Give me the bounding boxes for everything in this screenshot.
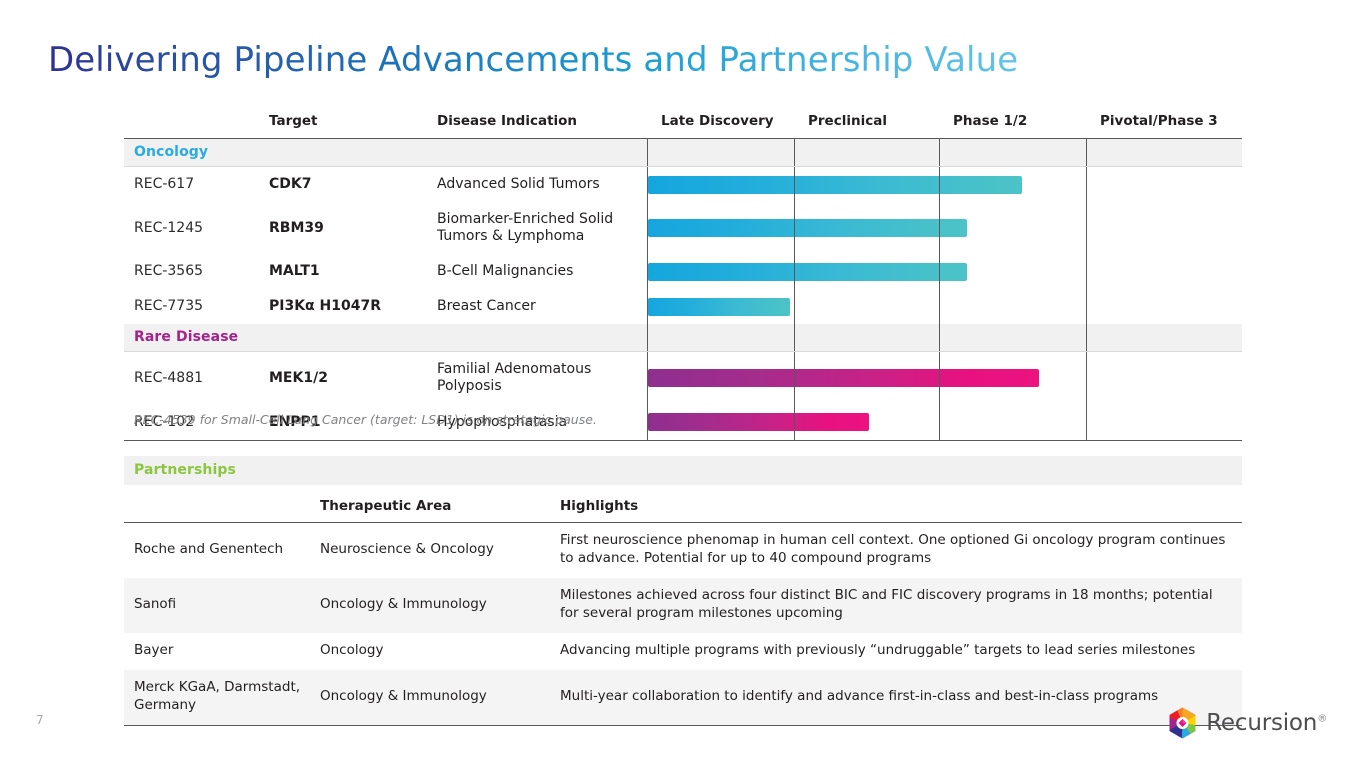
table-row: Merck KGaA, Darmstadt, Germany Oncology … [124, 670, 1242, 725]
program-code: REC-1245 [124, 202, 269, 254]
grid-cell [647, 352, 794, 405]
program-indication: Familial Adenomatous Polyposis [437, 352, 647, 405]
grid-cell [939, 324, 1086, 352]
pipeline-row: REC-7735 PI3Kα H1047R Breast Cancer [124, 289, 1242, 324]
pipeline-section: Target Disease Indication Late Discovery… [124, 113, 1242, 443]
gridline [794, 352, 795, 404]
trademark-symbol: ® [1317, 713, 1327, 724]
gridline [1086, 139, 1087, 166]
grid-cell [939, 289, 1086, 324]
gridline [939, 254, 940, 289]
pipeline-table: Target Disease Indication Late Discovery… [124, 113, 1242, 443]
grid-cell [1086, 289, 1242, 324]
grid-cell [1086, 405, 1242, 441]
gridline [939, 352, 940, 404]
gridline [647, 352, 648, 404]
gridline [1086, 202, 1087, 254]
gridline [794, 289, 795, 324]
grid-cell [647, 202, 794, 254]
grid-cell [794, 324, 939, 352]
program-indication: B-Cell Malignancies [437, 254, 647, 289]
partnerships-table: Therapeutic Area Highlights Roche and Ge… [124, 485, 1242, 726]
partner-therapeutic-area: Neuroscience & Oncology [310, 523, 550, 578]
gridline [939, 405, 940, 440]
gridline [1086, 405, 1087, 440]
section-label-rare-disease: Rare Disease [124, 324, 647, 352]
column-header-target: Target [269, 113, 437, 139]
pipeline-row: REC-617 CDK7 Advanced Solid Tumors [124, 167, 1242, 203]
program-indication: Advanced Solid Tumors [437, 167, 647, 203]
partner-highlights: First neuroscience phenomap in human cel… [550, 523, 1242, 578]
gridline [939, 167, 940, 202]
program-code: REC-7735 [124, 289, 269, 324]
table-row: Roche and Genentech Neuroscience & Oncol… [124, 523, 1242, 578]
grid-cell [1086, 324, 1242, 352]
table-row: Sanofi Oncology & Immunology Milestones … [124, 578, 1242, 633]
gridline [794, 202, 795, 254]
grid-cell [794, 167, 939, 203]
pipeline-header-row: Target Disease Indication Late Discovery… [124, 113, 1242, 139]
gridline [647, 167, 648, 202]
grid-cell [939, 202, 1086, 254]
pipeline-bottom-rule [124, 440, 1242, 443]
column-header-program [124, 113, 269, 139]
gridline [794, 405, 795, 440]
column-header-preclinical: Preclinical [794, 113, 939, 139]
partner-company: Roche and Genentech [124, 523, 310, 578]
bar-layer [647, 167, 794, 202]
page-title: Delivering Pipeline Advancements and Par… [48, 40, 1018, 80]
gridline [794, 254, 795, 289]
brand-name: Recursion® [1206, 710, 1327, 736]
grid-cell [939, 167, 1086, 203]
program-indication: Biomarker-Enriched Solid Tumors & Lympho… [437, 202, 647, 254]
grid-cell [1086, 139, 1242, 167]
pipeline-footnote: REC-4539 for Small-Cell Lung Cancer (tar… [134, 412, 597, 427]
grid-cell [647, 167, 794, 203]
program-target: CDK7 [269, 167, 437, 203]
pipeline-row: REC-3565 MALT1 B-Cell Malignancies [124, 254, 1242, 289]
partner-highlights: Milestones achieved across four distinct… [550, 578, 1242, 633]
grid-cell [794, 254, 939, 289]
column-header-disease-indication: Disease Indication [437, 113, 647, 139]
grid-cell [794, 289, 939, 324]
table-row: Bayer Oncology Advancing multiple progra… [124, 633, 1242, 670]
gridline [1086, 324, 1087, 351]
section-band-rare-disease: Rare Disease [124, 324, 1242, 352]
grid-cell [647, 289, 794, 324]
column-header-pivotal-phase-3: Pivotal/Phase 3 [1086, 113, 1242, 139]
gridline [647, 202, 648, 254]
gridline [794, 324, 795, 351]
grid-cell [647, 139, 794, 167]
partner-therapeutic-area: Oncology & Immunology [310, 578, 550, 633]
gridline [1086, 254, 1087, 289]
grid-cell [794, 405, 939, 441]
pipeline-row: REC-4881 MEK1/2 Familial Adenomatous Pol… [124, 352, 1242, 405]
column-header-therapeutic-area: Therapeutic Area [310, 485, 550, 523]
grid-cell [1086, 167, 1242, 203]
section-label-oncology: Oncology [124, 139, 647, 167]
gridline [1086, 352, 1087, 404]
progress-bar-rec-7735 [648, 298, 790, 316]
pipeline-row: REC-1245 RBM39 Biomarker-Enriched Solid … [124, 202, 1242, 254]
bar-layer [647, 202, 794, 254]
gridline [939, 139, 940, 166]
partner-company: Bayer [124, 633, 310, 670]
column-header-company [124, 485, 310, 523]
program-code: REC-4881 [124, 352, 269, 405]
program-target: MALT1 [269, 254, 437, 289]
brand-logo: Recursion® [1168, 707, 1327, 739]
bar-layer [647, 254, 794, 289]
gridline [794, 139, 795, 166]
partner-company: Sanofi [124, 578, 310, 633]
program-target: PI3Kα H1047R [269, 289, 437, 324]
grid-cell [647, 254, 794, 289]
program-target: MEK1/2 [269, 352, 437, 405]
partner-therapeutic-area: Oncology [310, 633, 550, 670]
partner-company: Merck KGaA, Darmstadt, Germany [124, 670, 310, 725]
column-header-highlights: Highlights [550, 485, 1242, 523]
section-label-partnerships: Partnerships [124, 456, 1242, 485]
bar-layer [647, 405, 794, 440]
gridline [939, 324, 940, 351]
bar-layer [647, 289, 794, 324]
grid-cell [1086, 352, 1242, 405]
gridline [647, 139, 648, 166]
grid-cell [939, 352, 1086, 405]
program-code: REC-3565 [124, 254, 269, 289]
grid-cell [1086, 202, 1242, 254]
gridline [939, 202, 940, 254]
grid-cell [647, 405, 794, 441]
bar-layer [647, 352, 794, 404]
grid-cell [647, 324, 794, 352]
grid-cell [1086, 254, 1242, 289]
grid-cell [794, 139, 939, 167]
gridline [939, 289, 940, 324]
grid-cell [939, 405, 1086, 441]
page-number: 7 [36, 713, 44, 727]
grid-cell [794, 352, 939, 405]
gridline [794, 167, 795, 202]
program-target: RBM39 [269, 202, 437, 254]
gridline [647, 405, 648, 440]
partner-highlights: Advancing multiple programs with previou… [550, 633, 1242, 670]
column-header-phase-1-2: Phase 1/2 [939, 113, 1086, 139]
section-band-oncology: Oncology [124, 139, 1242, 167]
gridline [647, 254, 648, 289]
grid-cell [939, 139, 1086, 167]
gridline [647, 289, 648, 324]
gridline [1086, 167, 1087, 202]
column-header-late-discovery: Late Discovery [647, 113, 794, 139]
program-indication: Breast Cancer [437, 289, 647, 324]
partnerships-section: Partnerships Therapeutic Area Highlights… [124, 456, 1242, 726]
program-code: REC-617 [124, 167, 269, 203]
partner-therapeutic-area: Oncology & Immunology [310, 670, 550, 725]
grid-cell [794, 202, 939, 254]
gridline [1086, 289, 1087, 324]
gridline [647, 324, 648, 351]
partner-highlights: Multi-year collaboration to identify and… [550, 670, 1242, 725]
partnerships-header-row: Therapeutic Area Highlights [124, 485, 1242, 523]
recursion-hexagon-logo-icon [1168, 707, 1197, 739]
grid-cell [939, 254, 1086, 289]
